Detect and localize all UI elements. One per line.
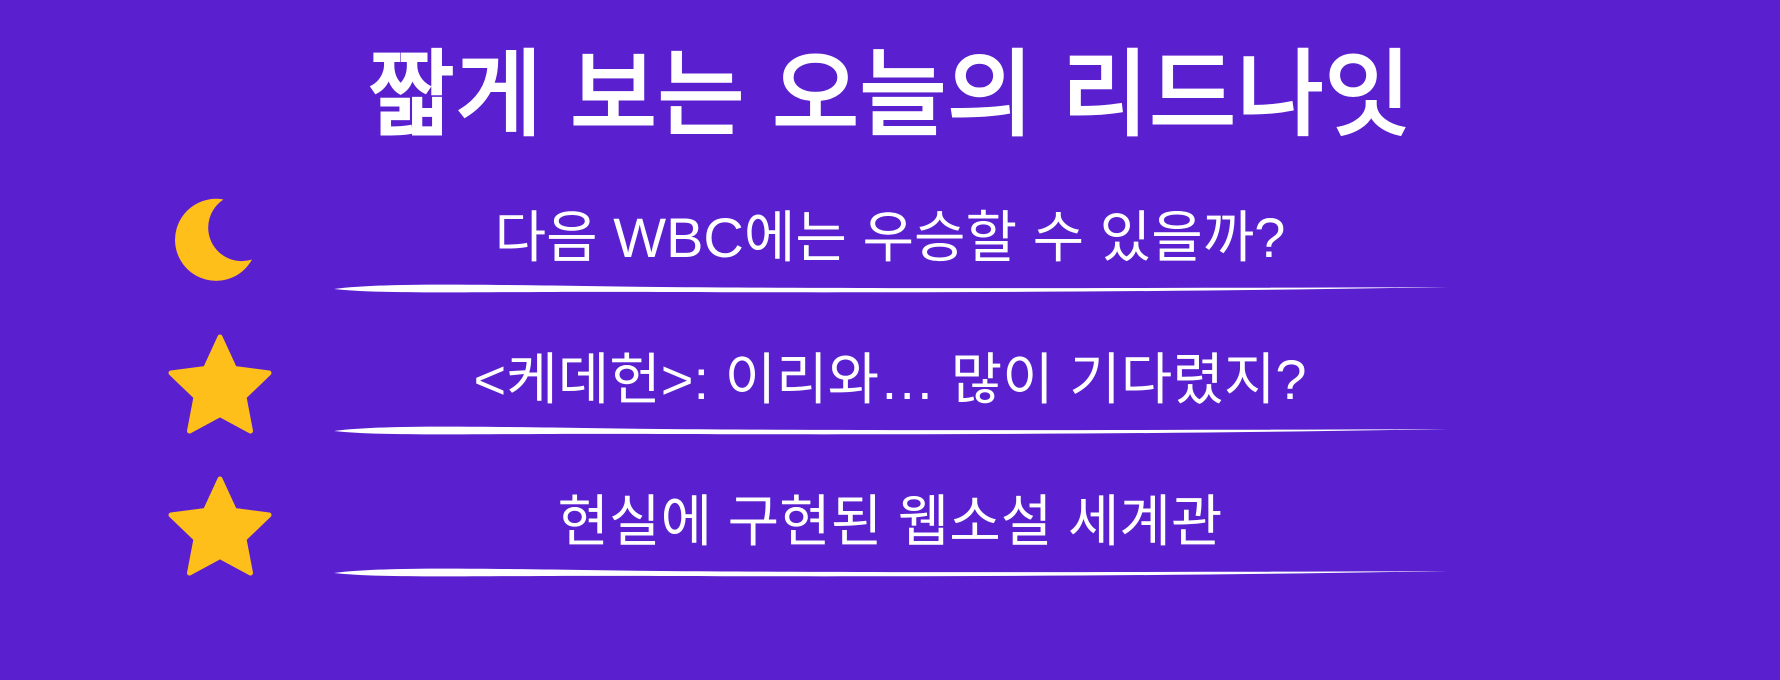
divider — [330, 560, 1450, 586]
divider — [330, 418, 1450, 444]
list-item-label: <케데헌>: 이리와… 많이 기다렸지? — [300, 332, 1480, 418]
list-item[interactable]: 현실에 구현된 웹소설 세계관 — [0, 460, 1780, 590]
star-icon — [165, 470, 275, 580]
crescent-moon-icon — [165, 186, 275, 296]
divider — [330, 276, 1450, 302]
headline-list: 다음 WBC에는 우승할 수 있을까? <케데헌>: 이리와… 많이 기다렸지? — [0, 176, 1780, 646]
page-title: 짧게 보는 오늘의 리드나잇 — [0, 30, 1780, 160]
star-icon — [165, 328, 275, 438]
list-item[interactable]: <케데헌>: 이리와… 많이 기다렸지? — [0, 318, 1780, 448]
list-item-label: 현실에 구현된 웹소설 세계관 — [300, 474, 1480, 560]
list-item-label: 다음 WBC에는 우승할 수 있을까? — [300, 190, 1480, 276]
promo-card: 짧게 보는 오늘의 리드나잇 다음 WBC에는 우승할 수 있을까? — [0, 0, 1780, 680]
list-item[interactable]: 다음 WBC에는 우승할 수 있을까? — [0, 176, 1780, 306]
